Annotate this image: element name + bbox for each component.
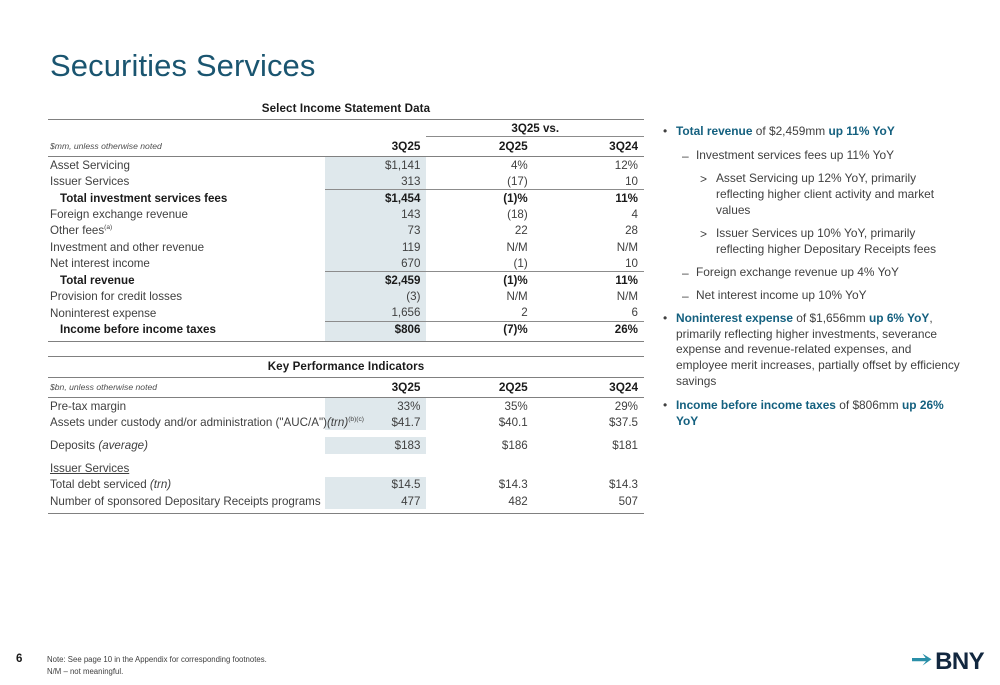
kpi-column-header-2q25: 2Q25 [426, 378, 533, 398]
subheading-label: Issuer Services [48, 461, 325, 477]
row-value: 12% [534, 157, 644, 174]
bullet-marker-icon: – [682, 265, 689, 281]
income-statement-units-note: $mm, unless otherwise noted [48, 137, 325, 157]
row-value: 507 [534, 493, 644, 509]
row-value: N/M [534, 289, 644, 305]
income-statement-caption: Select Income Statement Data [48, 102, 644, 120]
label-text: Total debt serviced [50, 478, 150, 491]
row-value: N/M [426, 239, 533, 255]
row-value: 28 [534, 223, 644, 239]
label-text: Issuer Services [50, 462, 129, 475]
table-subheading-row: Issuer Services [48, 461, 644, 477]
label-text: Number of sponsored Depositary Receipts … [50, 495, 321, 508]
highlight-text: Foreign exchange revenue up 4% YoY [696, 265, 899, 279]
row-value: (17) [426, 173, 533, 190]
row-value: 2 [426, 305, 533, 322]
highlight-bullet-l3: >Issuer Services up 10% YoY, primarily r… [662, 226, 962, 258]
row-value: 29% [534, 398, 644, 415]
page-number: 6 [16, 653, 22, 665]
row-label: Total revenue [48, 272, 325, 289]
footnote-line: N/M – not meaningful. [47, 666, 267, 678]
row-label: Investment and other revenue [48, 239, 325, 255]
row-value: $14.5 [325, 477, 426, 493]
bullet-marker-icon: > [700, 171, 707, 187]
highlight-bullet-l1: •Income before income taxes of $806mm up… [662, 398, 962, 430]
row-value: 670 [325, 255, 426, 272]
kpi-caption: Key Performance Indicators [48, 357, 644, 378]
highlight-emphasis: Total revenue [676, 124, 752, 138]
table-row: Deposits (average)$183$186$181 [48, 437, 644, 453]
spacer [426, 454, 533, 461]
table-row: Investment and other revenue119N/MN/M [48, 239, 644, 255]
spacer [534, 430, 644, 437]
column-header-2q25: 2Q25 [426, 137, 533, 157]
row-value [426, 461, 533, 477]
footnote-marker: (a) [104, 224, 112, 231]
row-value: N/M [534, 239, 644, 255]
row-value: 4% [426, 157, 533, 174]
highlight-bullet-l1: •Total revenue of $2,459mm up 11% YoY [662, 124, 962, 140]
highlights-list: •Total revenue of $2,459mm up 11% YoY–In… [662, 124, 962, 438]
row-label: Pre-tax margin [48, 398, 325, 415]
tables-container: Select Income Statement Data 3Q25 vs. $m… [48, 102, 644, 514]
row-value: (18) [426, 207, 533, 223]
spacer-row [48, 430, 644, 437]
kpi-column-header-3q25: 3Q25 [325, 378, 426, 398]
row-value: $2,459 [325, 272, 426, 289]
highlight-text: Issuer Services up 10% YoY, primarily re… [716, 226, 936, 256]
column-header-row: $mm, unless otherwise noted 3Q25 2Q25 3Q… [48, 137, 644, 157]
row-label: Assets under custody and/or administrati… [48, 414, 325, 430]
row-value: 10 [534, 255, 644, 272]
rule-cell [534, 509, 644, 514]
label-qualifier: (average) [98, 439, 148, 452]
row-value: (1)% [426, 190, 533, 207]
row-value [325, 461, 426, 477]
bullet-marker-icon: – [682, 148, 689, 164]
row-value: 11% [534, 272, 644, 289]
group-header-row: 3Q25 vs. [48, 120, 644, 137]
row-label: Total debt serviced (trn) [48, 477, 325, 493]
row-value: 11% [534, 190, 644, 207]
row-value: $14.3 [426, 477, 533, 493]
table-row: Other fees(a)732228 [48, 223, 644, 239]
column-header-3q24: 3Q24 [534, 137, 644, 157]
income-statement-table: Select Income Statement Data 3Q25 vs. $m… [48, 102, 644, 342]
row-value: $14.3 [534, 477, 644, 493]
row-value: $40.1 [426, 414, 533, 430]
footnote-line: Note: See page 10 in the Appendix for co… [47, 654, 267, 666]
kpi-section: Key Performance Indicators $bn, unless o… [48, 356, 644, 514]
spacer [325, 454, 426, 461]
footnotes: Note: See page 10 in the Appendix for co… [47, 654, 267, 677]
table-row: Issuer Services313(17)10 [48, 173, 644, 190]
highlight-emphasis: up 11% YoY [828, 124, 894, 138]
row-value: $183 [325, 437, 426, 453]
spacer [325, 430, 426, 437]
row-value: $37.5 [534, 414, 644, 430]
row-value: 26% [534, 321, 644, 338]
rule-cell [325, 509, 426, 514]
highlight-emphasis: up 6% YoY [869, 311, 929, 325]
column-header-row: $bn, unless otherwise noted 3Q25 2Q25 3Q… [48, 378, 644, 398]
row-value: 22 [426, 223, 533, 239]
row-label: Income before income taxes [48, 321, 325, 338]
row-label: Asset Servicing [48, 157, 325, 174]
label-text: Deposits [50, 439, 98, 452]
highlight-text: Asset Servicing up 12% YoY, primarily re… [716, 171, 934, 217]
spacer [426, 430, 533, 437]
footnote-marker: (b)(c) [348, 416, 364, 423]
bullet-marker-icon: • [663, 398, 667, 413]
row-label: Foreign exchange revenue [48, 207, 325, 223]
table-row: Assets under custody and/or administrati… [48, 414, 644, 430]
bullet-marker-icon: > [700, 226, 707, 242]
rule-cell [48, 509, 325, 514]
spacer [48, 430, 325, 437]
label-qualifier: (trn) [150, 478, 171, 491]
row-label: Number of sponsored Depositary Receipts … [48, 493, 325, 509]
highlight-text: of $2,459mm [752, 124, 828, 138]
highlight-bullet-l2: –Net interest income up 10% YoY [662, 288, 962, 304]
arrow-icon [911, 652, 933, 673]
bullet-marker-icon: • [663, 311, 667, 326]
bullet-marker-icon: • [663, 124, 667, 139]
page-title: Securities Services [50, 48, 316, 84]
row-value: 313 [325, 173, 426, 190]
rule-cell [426, 509, 533, 514]
row-label: Provision for credit losses [48, 289, 325, 305]
column-header-3q25: 3Q25 [325, 137, 426, 157]
row-value: 33% [325, 398, 426, 415]
kpi-body: Pre-tax margin33%35%29%Assets under cust… [48, 398, 644, 514]
row-value: (1)% [426, 272, 533, 289]
row-value: 143 [325, 207, 426, 223]
rule-cell [426, 338, 533, 342]
row-label: Net interest income [48, 255, 325, 272]
row-value: N/M [426, 289, 533, 305]
highlight-text: of $806mm [836, 398, 902, 412]
table-row: Asset Servicing$1,1414%12% [48, 157, 644, 174]
row-label: Total investment services fees [48, 190, 325, 207]
row-value: 477 [325, 493, 426, 509]
row-value: $181 [534, 437, 644, 453]
highlight-text: Investment services fees up 11% YoY [696, 148, 894, 162]
row-value: $186 [426, 437, 533, 453]
table-bottom-rule [48, 509, 644, 514]
table-row: Total revenue$2,459(1)%11% [48, 272, 644, 289]
row-label: Issuer Services [48, 173, 325, 190]
table-row: Total debt serviced (trn)$14.5$14.3$14.3 [48, 477, 644, 493]
bny-wordmark: BNY [935, 650, 984, 674]
row-value: $1,454 [325, 190, 426, 207]
highlight-bullet-l1: •Noninterest expense of $1,656mm up 6% Y… [662, 311, 962, 391]
highlight-bullet-l2: –Investment services fees up 11% YoY [662, 148, 962, 164]
row-value: 10 [534, 173, 644, 190]
table-row: Net interest income670(1)10 [48, 255, 644, 272]
income-statement-body: Asset Servicing$1,1414%12%Issuer Service… [48, 157, 644, 342]
highlight-emphasis: Noninterest expense [676, 311, 793, 325]
table-row: Provision for credit losses(3)N/MN/M [48, 289, 644, 305]
row-value: 1,656 [325, 305, 426, 322]
row-value: 6 [534, 305, 644, 322]
bullet-marker-icon: – [682, 288, 689, 304]
label-text: Pre-tax margin [50, 400, 126, 413]
comparison-group-header: 3Q25 vs. [426, 120, 644, 137]
row-value [534, 461, 644, 477]
table-row: Total investment services fees$1,454(1)%… [48, 190, 644, 207]
spacer [534, 454, 644, 461]
spacer [48, 454, 325, 461]
label-qualifier: (trn) [327, 416, 348, 429]
bny-logo: BNY [911, 650, 984, 674]
row-label: Deposits (average) [48, 437, 325, 453]
row-value: 4 [534, 207, 644, 223]
table-bottom-rule [48, 338, 644, 342]
rule-cell [325, 338, 426, 342]
highlight-bullet-l3: >Asset Servicing up 12% YoY, primarily r… [662, 171, 962, 219]
row-value: (1) [426, 255, 533, 272]
row-value: 73 [325, 223, 426, 239]
kpi-table: Key Performance Indicators $bn, unless o… [48, 356, 644, 514]
row-value: 119 [325, 239, 426, 255]
row-value: (7)% [426, 321, 533, 338]
row-value: 482 [426, 493, 533, 509]
spacer [48, 120, 325, 137]
highlight-text: of $1,656mm [793, 311, 869, 325]
highlight-emphasis: Income before income taxes [676, 398, 836, 412]
table-row: Income before income taxes$806(7)%26% [48, 321, 644, 338]
row-label: Noninterest expense [48, 305, 325, 322]
table-caption-row: Select Income Statement Data [48, 102, 644, 120]
spacer [325, 120, 426, 137]
row-value: (3) [325, 289, 426, 305]
rule-cell [48, 338, 325, 342]
label-text: Assets under custody and/or administrati… [50, 416, 327, 429]
table-row: Noninterest expense1,65626 [48, 305, 644, 322]
table-row: Foreign exchange revenue143(18)4 [48, 207, 644, 223]
row-value: $806 [325, 321, 426, 338]
table-caption-row: Key Performance Indicators [48, 357, 644, 378]
row-value: $1,141 [325, 157, 426, 174]
table-row: Number of sponsored Depositary Receipts … [48, 493, 644, 509]
table-row: Pre-tax margin33%35%29% [48, 398, 644, 415]
rule-cell [534, 338, 644, 342]
spacer-row [48, 454, 644, 461]
highlight-text: Net interest income up 10% YoY [696, 288, 867, 302]
kpi-units-note: $bn, unless otherwise noted [48, 378, 325, 398]
row-value: 35% [426, 398, 533, 415]
kpi-column-header-3q24: 3Q24 [534, 378, 644, 398]
highlight-bullet-l2: –Foreign exchange revenue up 4% YoY [662, 265, 962, 281]
row-label: Other fees(a) [48, 223, 325, 239]
